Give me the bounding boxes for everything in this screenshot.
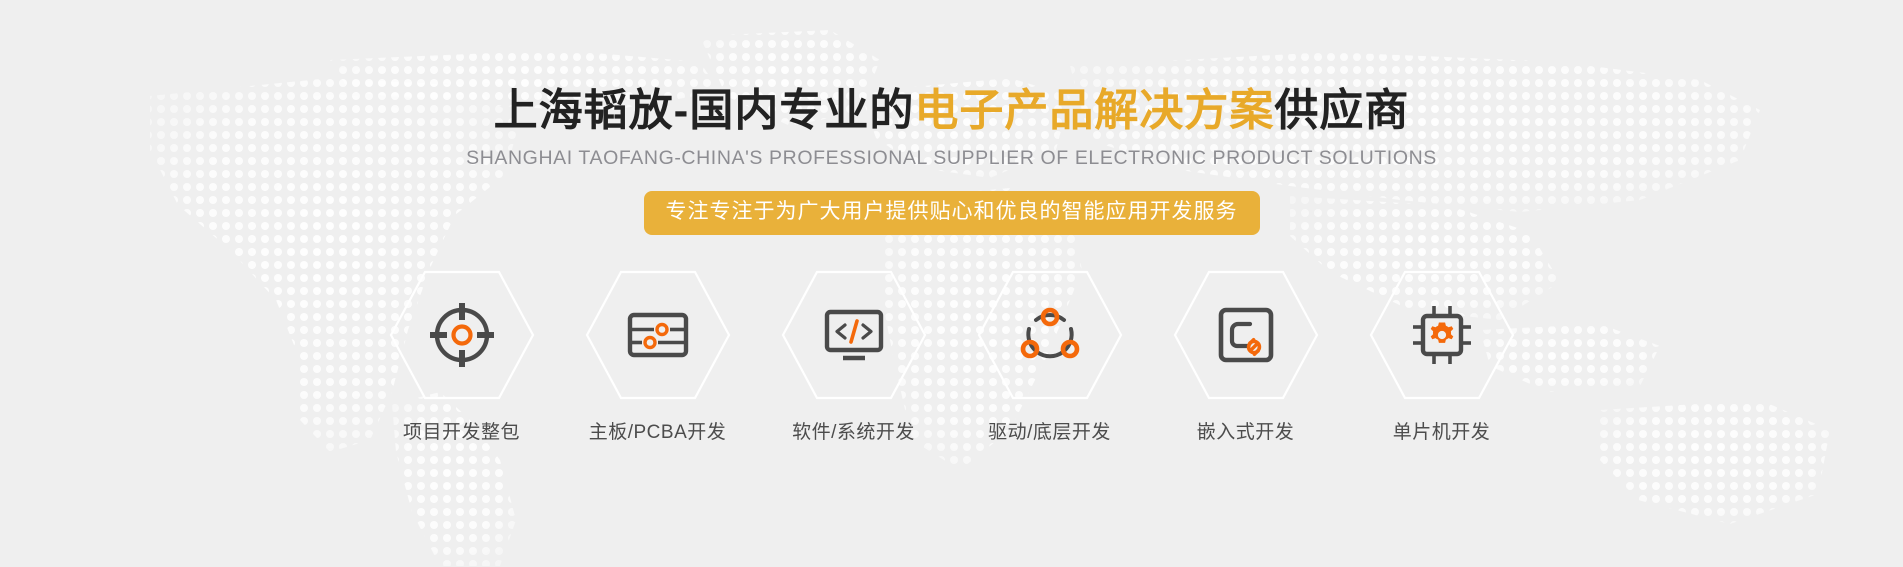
service-item-mcu[interactable]: 单片机开发	[1344, 269, 1540, 444]
page-title: 上海韬放-国内专业的电子产品解决方案供应商	[494, 88, 1410, 134]
service-item-embedded[interactable]: 嵌入式开发	[1148, 269, 1344, 444]
network-nodes-icon	[1014, 299, 1086, 371]
hexagon-frame-5	[1172, 269, 1320, 401]
service-item-software[interactable]: 软件/系统开发	[756, 269, 952, 444]
embedded-chain-icon	[1210, 299, 1282, 371]
service-label: 软件/系统开发	[792, 417, 915, 444]
hexagon-frame-6	[1368, 269, 1516, 401]
pcb-sliders-icon	[622, 299, 694, 371]
service-item-pcba[interactable]: 主板/PCBA开发	[560, 269, 756, 444]
hexagon-frame-3	[780, 269, 928, 401]
hero-banner: 上海韬放-国内专业的电子产品解决方案供应商 SHANGHAI TAOFANG-C…	[0, 0, 1903, 567]
service-list: 项目开发整包	[364, 269, 1540, 444]
service-item-driver[interactable]: 驱动/底层开发	[952, 269, 1148, 444]
hexagon-frame-2	[584, 269, 732, 401]
monitor-code-icon	[818, 299, 890, 371]
crosshair-target-icon	[426, 299, 498, 371]
service-label: 主板/PCBA开发	[589, 417, 727, 444]
tagline-wrap: 专注专注于为广大用户提供贴心和优良的智能应用开发服务	[644, 191, 1260, 235]
subtitle-english: SHANGHAI TAOFANG-CHINA'S PROFESSIONAL SU…	[466, 147, 1437, 170]
headline-lead: 上海韬放-国内专业的	[494, 86, 915, 135]
tagline-badge: 专注专注于为广大用户提供贴心和优良的智能应用开发服务	[644, 191, 1260, 235]
headline-accent: 电子产品解决方案	[914, 86, 1274, 135]
hexagon-frame-1	[388, 269, 536, 401]
mcu-gear-icon	[1406, 299, 1478, 371]
service-label: 驱动/底层开发	[988, 417, 1111, 444]
service-label: 单片机开发	[1393, 417, 1491, 444]
hexagon-frame-4	[976, 269, 1124, 401]
service-label: 项目开发整包	[403, 417, 520, 444]
headline-tail: 供应商	[1274, 86, 1409, 135]
service-item-project-package[interactable]: 项目开发整包	[364, 269, 560, 444]
service-label: 嵌入式开发	[1197, 417, 1295, 444]
